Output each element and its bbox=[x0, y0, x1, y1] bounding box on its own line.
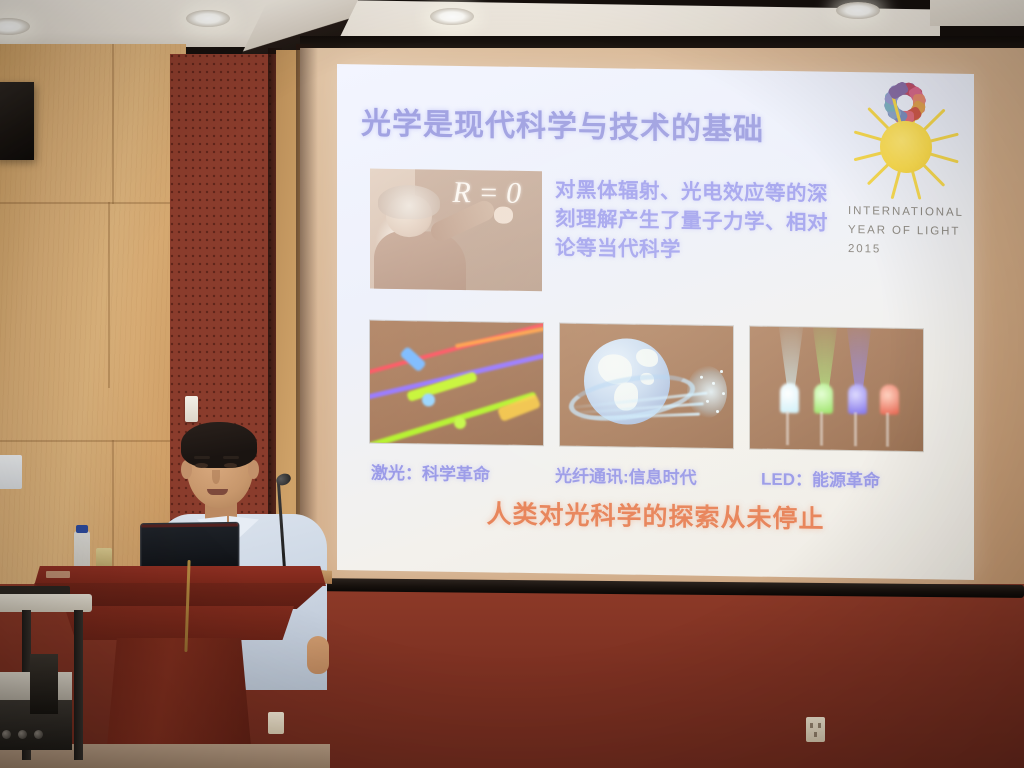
podium-front-band bbox=[64, 606, 294, 640]
slide-body-text: 对黑体辐射、光电效应等的深刻理解产生了量子力学、相对论等当代科学 bbox=[555, 175, 845, 267]
led-bulb-red bbox=[880, 385, 899, 415]
ceiling-downlight bbox=[430, 8, 474, 25]
iyl-sun-graphic bbox=[842, 90, 970, 92]
fiber-globe-photo bbox=[560, 324, 733, 449]
einstein-body bbox=[374, 231, 466, 292]
iyl-line-1: INTERNATIONAL bbox=[848, 202, 972, 223]
slide-footer-text: 人类对光科学的探索从未停止 bbox=[337, 492, 974, 538]
outlet-slot bbox=[818, 723, 821, 728]
led-bulb-blue bbox=[848, 384, 867, 414]
light-switch[interactable] bbox=[185, 396, 198, 422]
presenter-eye-left bbox=[195, 463, 208, 468]
outlet-slot bbox=[814, 732, 817, 737]
fiber-tip bbox=[720, 370, 723, 373]
caption-fiber: 光纤通讯:信息时代 bbox=[555, 461, 697, 488]
presenter-mouth bbox=[207, 489, 228, 495]
laser-spot-blue bbox=[422, 393, 435, 406]
wall-paper-holder bbox=[0, 455, 22, 489]
amp-knob[interactable] bbox=[34, 730, 43, 739]
presenter-hair bbox=[181, 422, 257, 468]
fiber-tip bbox=[712, 382, 715, 385]
wall-speaker-box bbox=[0, 82, 34, 160]
wood-panel-seam bbox=[0, 202, 186, 204]
screen-top-rail bbox=[300, 36, 1024, 48]
led-bulb-white bbox=[780, 383, 799, 413]
presenter-brow-right bbox=[223, 456, 239, 459]
fiber-tip bbox=[716, 410, 719, 413]
power-outlet[interactable] bbox=[806, 717, 825, 742]
fiber-tip bbox=[722, 392, 725, 395]
presenter-brow-left bbox=[194, 456, 210, 459]
fiber-tip bbox=[700, 376, 703, 379]
projected-slide: 光学是现代科学与技术的基础 R = 0 对黑体辐射、光电效应等的深刻理解产生了量… bbox=[337, 64, 974, 580]
led-photo bbox=[750, 326, 923, 451]
caption-laser: 激光：科学革命 bbox=[371, 459, 490, 486]
presenter-eye-right bbox=[224, 463, 237, 468]
outlet-slot bbox=[810, 723, 813, 728]
lecture-hall-scene: 光学是现代科学与技术的基础 R = 0 对黑体辐射、光电效应等的深刻理解产生了量… bbox=[0, 0, 1024, 768]
av-black-box bbox=[30, 654, 58, 714]
led-leg bbox=[854, 412, 857, 446]
power-outlet[interactable] bbox=[268, 712, 284, 734]
caption-led: LED：能源革命 bbox=[761, 465, 880, 492]
ceiling-downlight bbox=[186, 10, 230, 27]
laser-beam-green bbox=[370, 391, 537, 445]
ceiling-panel-far-right bbox=[930, 0, 1024, 26]
laser-spot-green bbox=[454, 417, 466, 429]
presenter-hand bbox=[307, 636, 329, 674]
amp-knob[interactable] bbox=[18, 730, 27, 739]
einstein-photo: R = 0 bbox=[370, 169, 542, 292]
av-table-leg bbox=[74, 610, 83, 760]
iyl-line-3: 2015 bbox=[848, 240, 972, 261]
laser-photo bbox=[370, 321, 543, 446]
led-bulb-green bbox=[814, 383, 833, 413]
einstein-hair bbox=[378, 185, 440, 220]
sun-icon bbox=[880, 121, 932, 174]
laser-optic-blue bbox=[399, 346, 426, 372]
fiber-tip bbox=[706, 400, 709, 403]
laptop-bezel bbox=[142, 523, 238, 527]
iyl-logo-text: INTERNATIONAL YEAR OF LIGHT 2015 bbox=[848, 202, 972, 261]
led-leg bbox=[786, 411, 789, 445]
desk-mug[interactable] bbox=[96, 548, 112, 568]
wood-panel-seam bbox=[112, 44, 114, 204]
podium-name-plate bbox=[46, 571, 70, 578]
slide-title: 光学是现代科学与技术的基础 bbox=[361, 98, 831, 149]
presenter-nose bbox=[212, 470, 220, 484]
fiber-bundle bbox=[687, 365, 727, 418]
ceiling-downlight bbox=[836, 2, 880, 19]
presenter-ear-right bbox=[248, 460, 259, 479]
iyl-2015-logo: INTERNATIONAL YEAR OF LIGHT 2015 bbox=[842, 90, 970, 270]
continent-shape bbox=[636, 349, 658, 367]
amp-knob[interactable] bbox=[2, 730, 11, 739]
iyl-line-2: YEAR OF LIGHT bbox=[848, 221, 972, 242]
einstein-hand bbox=[494, 206, 513, 223]
wood-panel-seam bbox=[108, 202, 110, 388]
led-leg bbox=[886, 413, 889, 447]
water-bottle[interactable] bbox=[74, 531, 90, 569]
bottle-cap bbox=[76, 525, 88, 533]
led-leg bbox=[820, 412, 823, 446]
